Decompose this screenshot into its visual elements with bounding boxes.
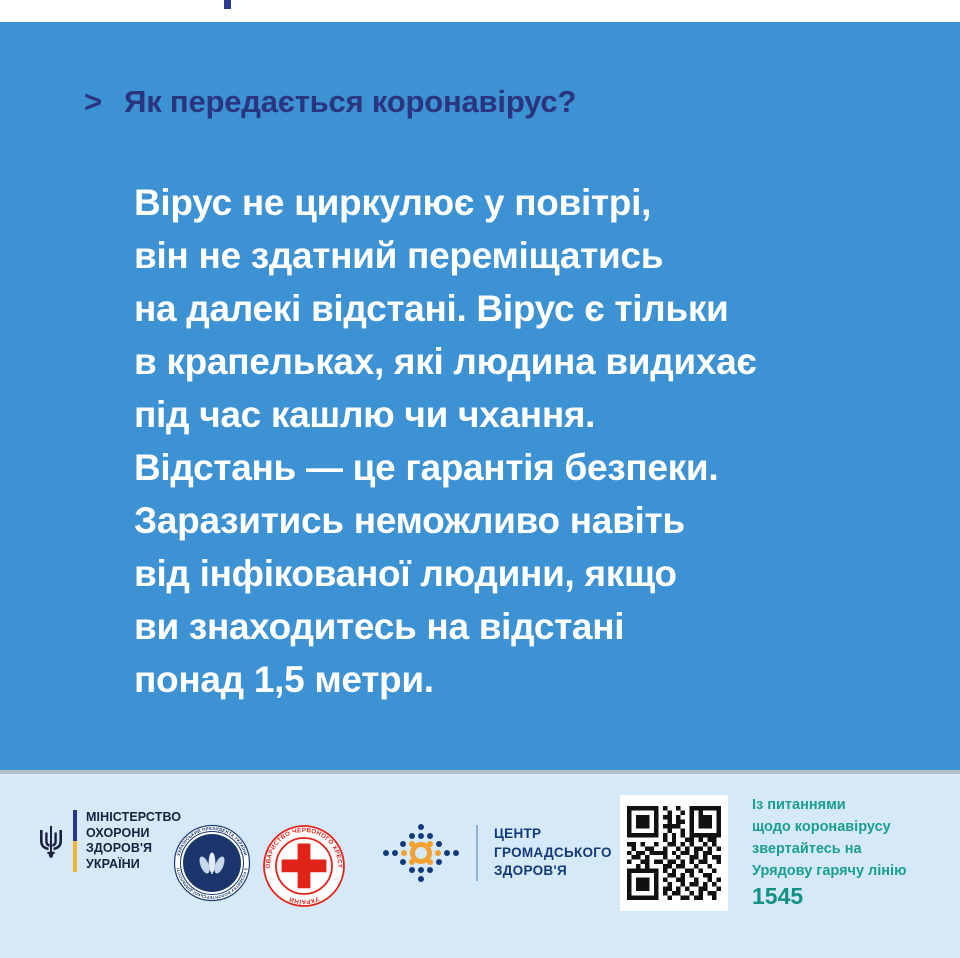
phc-divider-bar (476, 825, 478, 881)
body-copy: Вірус не циркулює у повітрі, він не здат… (134, 176, 924, 706)
body-line: від інфікованої людини, якщо (134, 547, 924, 600)
red-cross-emblem-icon: ТОВАРИСТВО ЧЕРВОНОГО ХРЕСТА УКРАЇНИ (262, 824, 346, 908)
phc-line: ЦЕНТР (494, 825, 612, 844)
hotline-number: 1545 (752, 883, 952, 910)
ministry-of-health-logo: МІНІСТЕРСТВО ОХОРОНИ ЗДОРОВ'Я УКРАЇНИ (38, 810, 181, 872)
cropped-artifact-mark (224, 0, 231, 9)
ministry-name-text: МІНІСТЕРСТВО ОХОРОНИ ЗДОРОВ'Я УКРАЇНИ (86, 810, 181, 872)
page-title: Як передається коронавірус? (124, 86, 576, 117)
body-line: Заразитись неможливо навіть (134, 494, 924, 547)
hotline-line: звертайтесь на (752, 838, 952, 860)
qr-code[interactable] (620, 795, 728, 911)
body-line: Відстань — це гарантія безпеки. (134, 441, 924, 494)
body-line: ви знаходитесь на відстані (134, 600, 924, 653)
chevron-right-icon: > (84, 86, 102, 117)
top-edge-strip (0, 0, 960, 22)
public-health-dots-icon (382, 822, 460, 884)
hotline-info: Із питаннями щодо коронавірусу звертайте… (752, 794, 952, 910)
ministry-line: УКРАЇНИ (86, 857, 181, 873)
qr-code-icon[interactable] (627, 802, 721, 904)
body-line: на далекі відстані. Вірус є тільки (134, 282, 924, 335)
volunteer-heart-emblem: УКРАЇНСЬКИЙ ПРЕЗИДЕНТА УКРАЇНИ З РОЗВИТК… (173, 824, 251, 902)
phc-line: ЗДОРОВ'Я (494, 862, 612, 881)
body-line: понад 1,5 метри. (134, 653, 924, 706)
page-heading: > Як передається коронавірус? (84, 86, 576, 117)
ministry-line: ОХОРОНИ (86, 826, 181, 842)
hotline-line: Урядову гарячу лінію (752, 860, 952, 882)
red-cross-emblem: ТОВАРИСТВО ЧЕРВОНОГО ХРЕСТА УКРАЇНИ (262, 824, 346, 908)
body-line: під час кашлю чи чхання. (134, 388, 924, 441)
public-health-center-logo: ЦЕНТР ГРОМАДСЬКОГО ЗДОРОВ'Я (382, 822, 612, 884)
volunteer-heart-emblem-icon: УКРАЇНСЬКИЙ ПРЕЗИДЕНТА УКРАЇНИ З РОЗВИТК… (173, 824, 251, 902)
body-line: в крапельках, які людина видихає (134, 335, 924, 388)
covid-info-poster: > Як передається коронавірус? Вірус не ц… (0, 0, 960, 958)
phc-line: ГРОМАДСЬКОГО (494, 844, 612, 863)
flag-divider-bar (73, 810, 77, 872)
body-line: Вірус не циркулює у повітрі, (134, 176, 924, 229)
ministry-line: МІНІСТЕРСТВО (86, 810, 181, 826)
footer-bar: МІНІСТЕРСТВО ОХОРОНИ ЗДОРОВ'Я УКРАЇНИ (0, 774, 960, 958)
phc-name-text: ЦЕНТР ГРОМАДСЬКОГО ЗДОРОВ'Я (494, 825, 612, 881)
body-line: він не здатний переміщатись (134, 229, 924, 282)
hotline-line: Із питаннями (752, 794, 952, 816)
ministry-line: ЗДОРОВ'Я (86, 841, 181, 857)
hotline-line: щодо коронавірусу (752, 816, 952, 838)
ukraine-trident-icon (38, 824, 64, 858)
